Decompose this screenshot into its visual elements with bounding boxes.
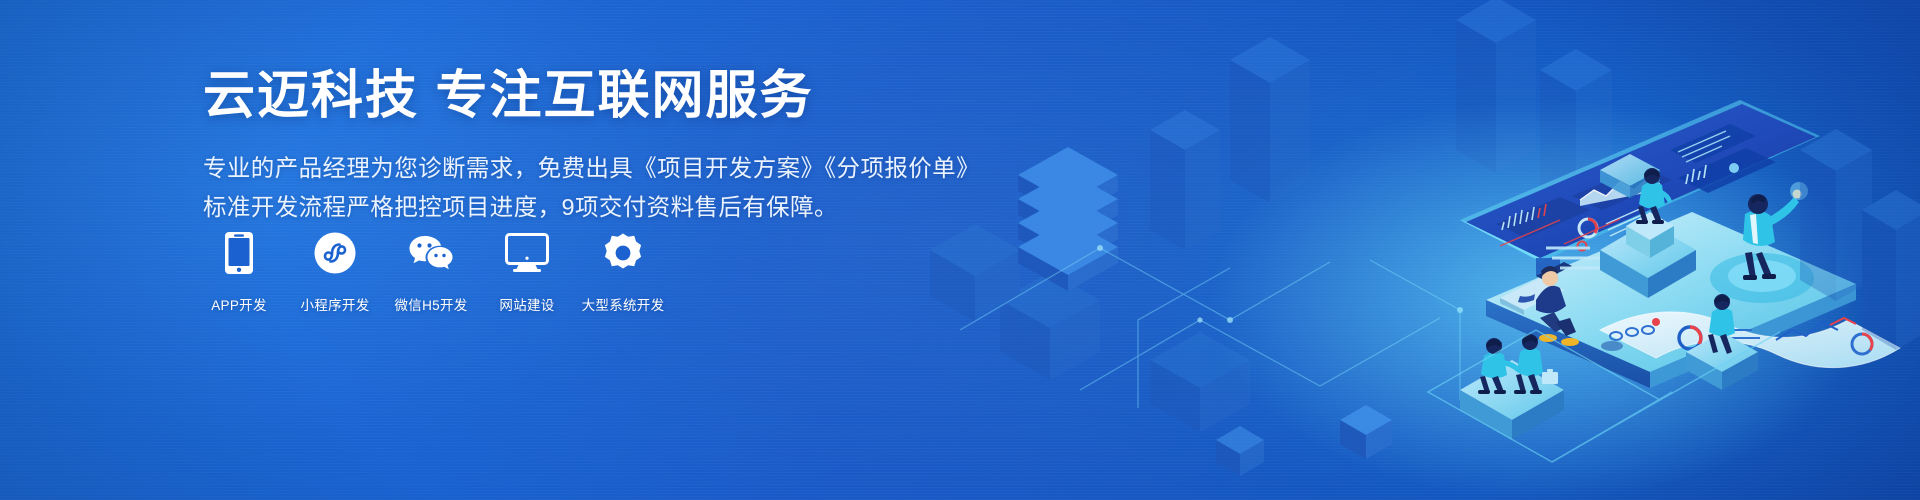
gear-icon [600, 230, 646, 276]
mini-program-icon [312, 230, 358, 276]
service-item-large-system[interactable]: 大型系统开发 [587, 230, 659, 314]
service-item-app[interactable]: APP开发 [203, 230, 275, 314]
hero-subtitle: 专业的产品经理为您诊断需求，免费出具《项目开发方案》《分项报价单》 标准开发流程… [203, 149, 923, 227]
service-item-wechat-h5[interactable]: 微信H5开发 [395, 230, 467, 314]
service-label: 网站建设 [499, 294, 554, 314]
mobile-phone-icon [216, 230, 262, 276]
service-label: 大型系统开发 [582, 294, 665, 314]
hero-banner: 云迈科技 专注互联网服务 专业的产品经理为您诊断需求，免费出具《项目开发方案》《… [0, 0, 1920, 500]
monitor-icon [504, 230, 550, 276]
subtitle-line-1: 专业的产品经理为您诊断需求，免费出具《项目开发方案》《分项报价单》 [203, 149, 923, 188]
illustration-isometric-tech [900, 0, 1920, 500]
service-label: 微信H5开发 [394, 294, 467, 314]
service-label: APP开发 [211, 294, 267, 314]
hero-copy: 云迈科技 专注互联网服务 专业的产品经理为您诊断需求，免费出具《项目开发方案》《… [203, 66, 923, 227]
service-item-mini-program[interactable]: 小程序开发 [299, 230, 371, 314]
wechat-icon [408, 230, 454, 276]
service-label: 小程序开发 [301, 294, 370, 314]
subtitle-line-2: 标准开发流程严格把控项目进度，9项交付资料售后有保障。 [203, 188, 923, 227]
service-item-website[interactable]: 网站建设 [491, 230, 563, 314]
service-list: APP开发 小程序开发 [203, 230, 659, 314]
page-title: 云迈科技 专注互联网服务 [203, 66, 923, 127]
